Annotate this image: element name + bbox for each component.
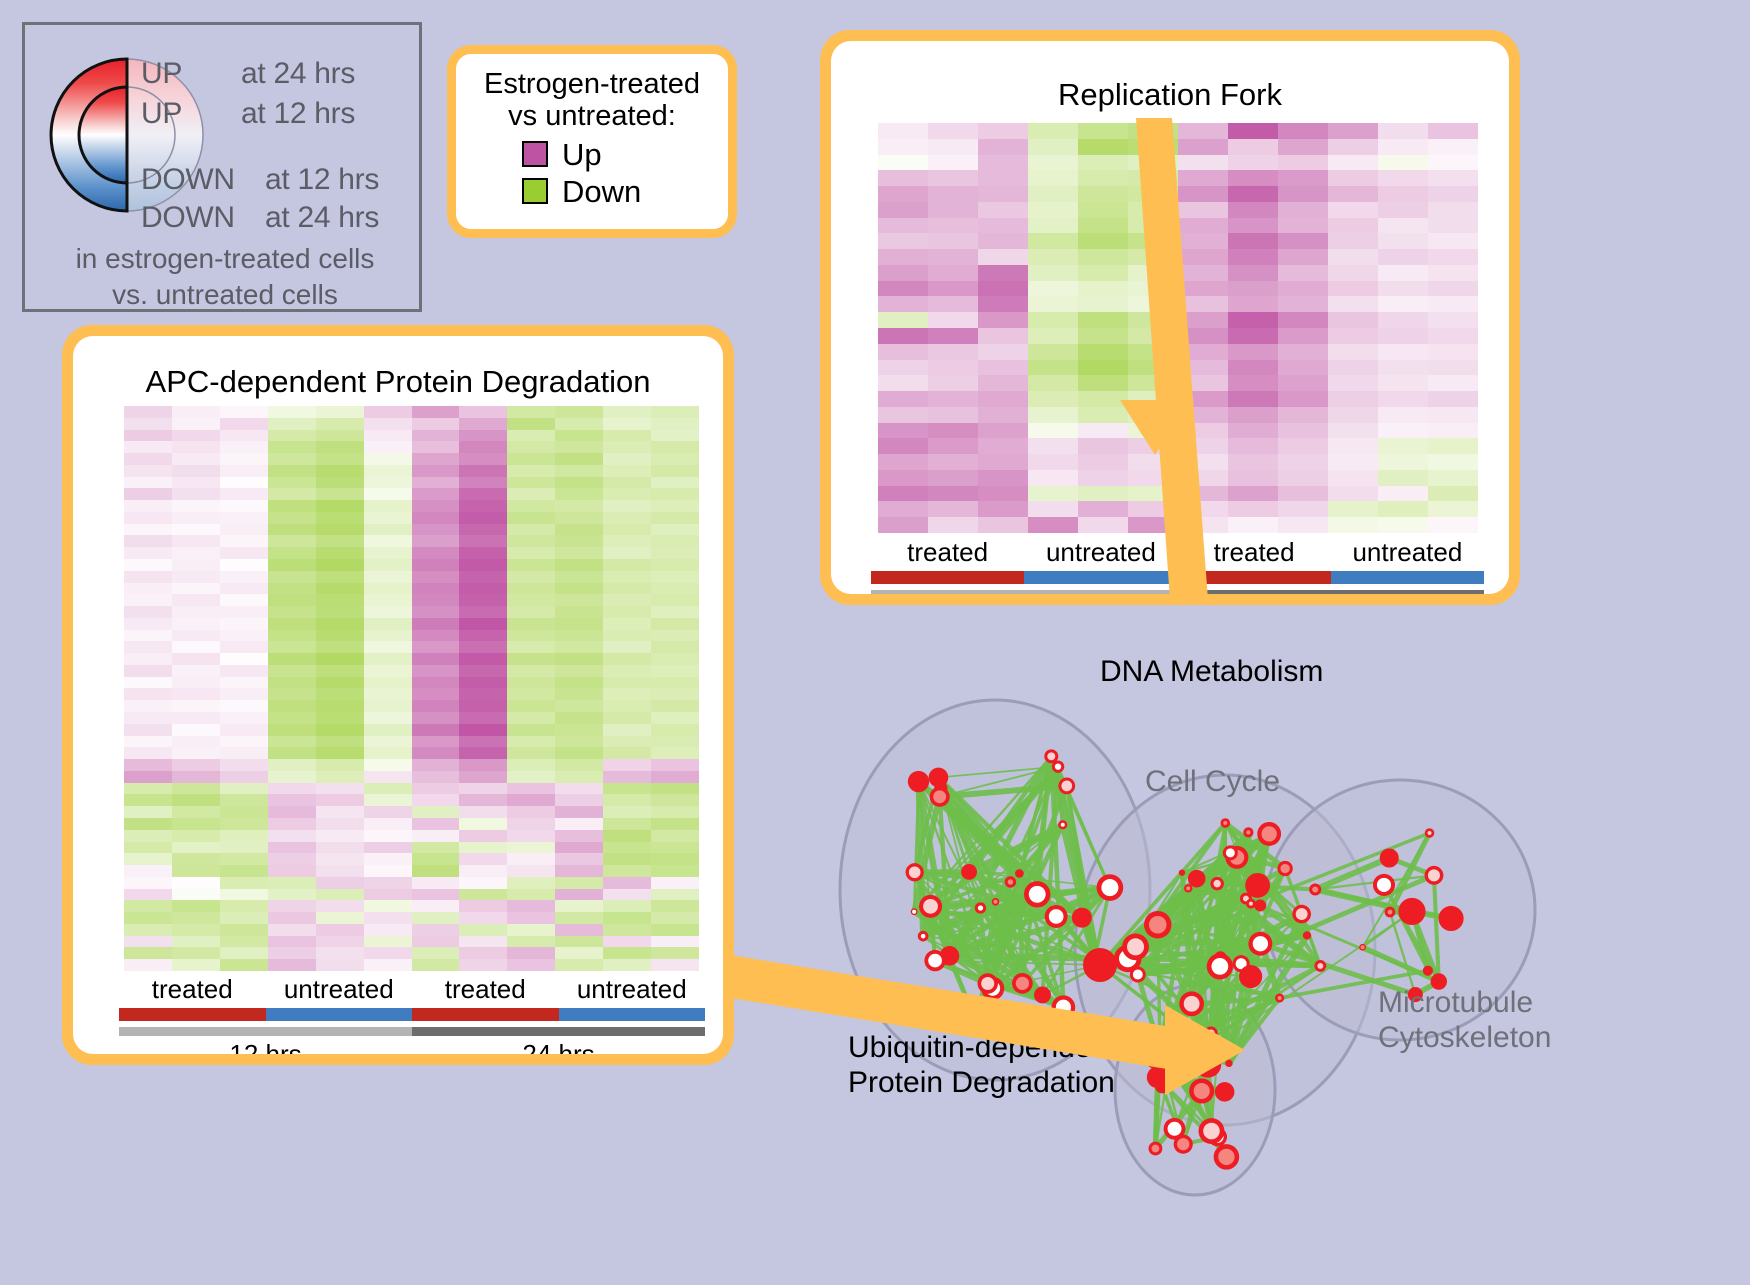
heatmap-cell [172, 430, 220, 442]
heatmap-cell [412, 406, 460, 418]
heatmap-cell [555, 677, 603, 689]
heatmap-cell [603, 583, 651, 595]
heatmap-cell [1028, 265, 1078, 281]
heatmap-cell [364, 736, 412, 748]
condition-bar-segment [412, 1008, 559, 1021]
heatmap-cell [364, 535, 412, 547]
heatmap-cell [412, 630, 460, 642]
heatmap-cell [124, 406, 172, 418]
heatmap-cell [1178, 139, 1228, 155]
heatmap-cell [459, 500, 507, 512]
heatmap-cell [1428, 328, 1478, 344]
network-node [1034, 987, 1051, 1004]
heatmap-cell [1378, 155, 1428, 171]
heatmap-cell [124, 818, 172, 830]
heatmap-cell [268, 606, 316, 618]
heatmap-cell [555, 818, 603, 830]
network-node-core [1101, 879, 1118, 896]
heatmap-cell [651, 747, 699, 759]
heatmap-cell [412, 571, 460, 583]
network-node-core [928, 954, 942, 968]
heatmap-cell [928, 233, 978, 249]
heatmap-cell [603, 747, 651, 759]
heatmap-cell [555, 688, 603, 700]
heatmap-cell [1178, 155, 1228, 171]
heatmap-cell [555, 594, 603, 606]
heatmap-cell [1428, 454, 1478, 470]
heatmap-cell [507, 583, 555, 595]
heatmap-cell [459, 724, 507, 736]
heatmap-cell [1128, 170, 1178, 186]
heatmap-cell [172, 747, 220, 759]
heatmap-cell [1078, 202, 1128, 218]
heatmap-cell [1378, 312, 1428, 328]
condition-label: treated [871, 537, 1024, 568]
heatmap-cell [603, 477, 651, 489]
heatmap-cell [459, 900, 507, 912]
heatmap-cell [220, 818, 268, 830]
heatmap-cell [1178, 123, 1228, 139]
heatmap-cell [1428, 391, 1478, 407]
heatmap-cell [507, 406, 555, 418]
heatmap-cell [412, 583, 460, 595]
heatmap-cell [364, 959, 412, 971]
heatmap-cell [1078, 486, 1128, 502]
heatmap-cell [1228, 407, 1278, 423]
down-color-swatch [522, 178, 548, 204]
heatmap-cell [1178, 407, 1228, 423]
heatmap-cell [220, 877, 268, 889]
heatmap-cell [316, 477, 364, 489]
network-node-core [912, 910, 916, 914]
heatmap-cell [651, 559, 699, 571]
heatmap-cell [555, 512, 603, 524]
estrogen-legend-title-line1: Estrogen-treated [466, 68, 718, 100]
heatmap-cell [459, 630, 507, 642]
heatmap-cell [412, 924, 460, 936]
heatmap-cell [1078, 470, 1128, 486]
heatmap-cell [1028, 155, 1078, 171]
heatmap-cell [220, 783, 268, 795]
heatmap-cell [316, 889, 364, 901]
condition-label: untreated [559, 974, 706, 1005]
heatmap-cell [651, 889, 699, 901]
heatmap-cell [555, 724, 603, 736]
heatmap-cell [268, 406, 316, 418]
heatmap-cell [507, 630, 555, 642]
heatmap-cell [172, 677, 220, 689]
heatmap-cell [364, 877, 412, 889]
heatmap-cell [268, 865, 316, 877]
heatmap-cell [1278, 328, 1328, 344]
heatmap-cell [1028, 486, 1078, 502]
heatmap-cell [1178, 281, 1228, 297]
heatmap-cell [555, 477, 603, 489]
heatmap-cell [124, 712, 172, 724]
heatmap-cell [1128, 328, 1178, 344]
heatmap-cell [1178, 202, 1228, 218]
heatmap-cell [412, 677, 460, 689]
heatmap-cell [603, 606, 651, 618]
heatmap-cell [507, 677, 555, 689]
heatmap-cell [220, 653, 268, 665]
heatmap-cell [878, 123, 928, 139]
heatmap-cell [316, 571, 364, 583]
network-node [1072, 908, 1092, 928]
heatmap-cell [1078, 249, 1128, 265]
heatmap-cell [1428, 407, 1478, 423]
network-node [1239, 965, 1262, 988]
heatmap-cell [928, 218, 978, 234]
heatmap-cell [268, 535, 316, 547]
heatmap-cell [316, 641, 364, 653]
heatmap-cell [172, 665, 220, 677]
heatmap-cell [412, 594, 460, 606]
network-node [1215, 1082, 1235, 1102]
up-color-swatch [522, 141, 548, 167]
heatmap-cell [364, 465, 412, 477]
heatmap-cell [172, 700, 220, 712]
network-node [1438, 906, 1463, 931]
heatmap-cell [316, 512, 364, 524]
heatmap-cell [412, 759, 460, 771]
heatmap-cell [651, 630, 699, 642]
heatmap-cell [1278, 438, 1328, 454]
heatmap-cell [220, 641, 268, 653]
heatmap-cell [364, 677, 412, 689]
estrogen-legend-card: Estrogen-treated vs untreated: Up Down [447, 45, 737, 238]
heatmap-cell [555, 524, 603, 536]
heatmap-cell [316, 583, 364, 595]
heatmap-cell [268, 947, 316, 959]
heatmap-cell [651, 700, 699, 712]
heatmap-cell [412, 700, 460, 712]
heatmap-cell [1178, 186, 1228, 202]
heatmap-cell [220, 583, 268, 595]
heatmap-cell [316, 418, 364, 430]
heatmap-cell [928, 328, 978, 344]
heatmap-cell [364, 912, 412, 924]
heatmap-cell [459, 783, 507, 795]
heatmap-cell [1328, 296, 1378, 312]
heatmap-cell [220, 453, 268, 465]
heatmap-cell [507, 500, 555, 512]
heatmap-cell [651, 688, 699, 700]
heatmap-cell [124, 877, 172, 889]
heatmap-cell [1028, 186, 1078, 202]
heatmap-cell [878, 407, 928, 423]
heatmap-cell [268, 818, 316, 830]
heatmap-cell [412, 865, 460, 877]
heatmap-cell [1078, 281, 1128, 297]
heatmap-cell [172, 618, 220, 630]
heatmap-cell [1328, 423, 1378, 439]
heatmap-cell [364, 830, 412, 842]
heatmap-cell [555, 700, 603, 712]
heatmap-cell [316, 630, 364, 642]
heatmap-cell [1428, 423, 1478, 439]
network-node-core [978, 905, 983, 910]
cluster-label-microtubule: Microtubule Cytoskeleton [1378, 985, 1551, 1056]
timepoint-label: 12 hrs [119, 1039, 412, 1054]
network-node-core [1207, 1029, 1215, 1037]
network-node-core [1152, 1145, 1160, 1153]
heatmap-cell [316, 959, 364, 971]
heatmap-cell [172, 653, 220, 665]
heatmap-cell [651, 430, 699, 442]
heatmap-cell [268, 441, 316, 453]
heatmap-cell [1028, 218, 1078, 234]
heatmap-cell [364, 547, 412, 559]
heatmap-cell [268, 453, 316, 465]
network-node-core [921, 934, 926, 939]
heatmap-cell [364, 724, 412, 736]
heatmap-cell [268, 736, 316, 748]
heatmap-cell [603, 818, 651, 830]
heatmap-cell [124, 559, 172, 571]
heatmap-cell [507, 724, 555, 736]
heatmap-cell [316, 818, 364, 830]
heatmap-cell [1328, 170, 1378, 186]
heatmap-cell [172, 688, 220, 700]
heatmap-cell [268, 959, 316, 971]
heatmap-cell [459, 700, 507, 712]
timepoint-color-bar-apc [119, 1027, 705, 1036]
heatmap-cell [459, 559, 507, 571]
heatmap-cell [1078, 123, 1128, 139]
heatmap-cell [603, 677, 651, 689]
network-node [1015, 869, 1024, 878]
heatmap-cell [1228, 139, 1278, 155]
heatmap-cell [878, 517, 928, 533]
heatmap-cell [507, 618, 555, 630]
heatmap-cell [1178, 438, 1228, 454]
heatmap-apc [124, 406, 699, 971]
heatmap-cell [172, 641, 220, 653]
heatmap-cell [124, 488, 172, 500]
heatmap-cell [1028, 470, 1078, 486]
legend-item-up: Up [522, 139, 718, 170]
heatmap-cell [651, 406, 699, 418]
heatmap-cell [1328, 501, 1378, 517]
network-node-core [1312, 886, 1318, 892]
heatmap-cell [172, 512, 220, 524]
heatmap-cell [1178, 360, 1228, 376]
heatmap-cell [268, 877, 316, 889]
heatmap-cell [412, 818, 460, 830]
heatmap-cell [1228, 265, 1278, 281]
heatmap-cell [1328, 123, 1378, 139]
heatmap-cell [507, 924, 555, 936]
heatmap-cell [1128, 470, 1178, 486]
heatmap-cell [364, 500, 412, 512]
network-node-core [1133, 970, 1143, 980]
heatmap-cell [507, 535, 555, 547]
heatmap-cell [1078, 233, 1128, 249]
heatmap-cell [507, 771, 555, 783]
network-node-core [1194, 1083, 1210, 1099]
heatmap-cell [316, 535, 364, 547]
heatmap-cell [651, 477, 699, 489]
heatmap-cell [555, 641, 603, 653]
network-node-core [1262, 826, 1277, 841]
heatmap-cell [1378, 170, 1428, 186]
network-node-core [1184, 996, 1200, 1012]
heatmap-cell [220, 842, 268, 854]
heatmap-cell [316, 465, 364, 477]
heatmap-cell [1428, 218, 1478, 234]
condition-bar-segment [1178, 571, 1331, 584]
heatmap-cell [268, 700, 316, 712]
heatmap-cell [555, 465, 603, 477]
heatmap-cell [555, 618, 603, 630]
heatmap-cell [1078, 155, 1128, 171]
heatmap-cell [1328, 454, 1378, 470]
network-node [1083, 948, 1117, 982]
heatmap-cell [928, 454, 978, 470]
heatmap-cell [1128, 454, 1178, 470]
heatmap-cell [1428, 249, 1478, 265]
heatmap-cell [220, 406, 268, 418]
heatmap-cell [1228, 170, 1278, 186]
heatmap-cell [1278, 375, 1328, 391]
heatmap-cell [928, 407, 978, 423]
heatmap-cell [1078, 296, 1128, 312]
network-node-core [1203, 1123, 1220, 1140]
heatmap-cell [555, 865, 603, 877]
heatmap-cell [1378, 407, 1428, 423]
heatmap-cell [412, 936, 460, 948]
heatmap-cell [507, 547, 555, 559]
heatmap-cell [878, 312, 928, 328]
heatmap-cell [364, 653, 412, 665]
heatmap-cell [412, 641, 460, 653]
heatmap-cell [1078, 438, 1128, 454]
heatmap-cell [220, 535, 268, 547]
heatmap-cell [268, 900, 316, 912]
network-node-core [1280, 864, 1289, 873]
heatmap-cell [928, 170, 978, 186]
heatmap-cell [978, 139, 1028, 155]
heatmap-cell [651, 618, 699, 630]
heatmap-cell [268, 912, 316, 924]
heatmap-cell [124, 947, 172, 959]
heatmap-cell [316, 842, 364, 854]
heatmap-cell [459, 736, 507, 748]
heatmap-cell [412, 842, 460, 854]
heatmap-cell [364, 524, 412, 536]
ring-label-down-12: DOWN [141, 163, 235, 197]
heatmap-cell [507, 665, 555, 677]
heatmap-cell [1078, 391, 1128, 407]
heatmap-cell [603, 900, 651, 912]
heatmap-cell [220, 618, 268, 630]
heatmap-cell [172, 547, 220, 559]
heatmap-cell [220, 853, 268, 865]
network-node-core [1061, 823, 1065, 827]
heatmap-cell [1428, 360, 1478, 376]
heatmap-cell [268, 559, 316, 571]
heatmap-cell [364, 630, 412, 642]
heatmap-cell [507, 912, 555, 924]
heatmap-cell [316, 877, 364, 889]
heatmap-cell [603, 889, 651, 901]
heatmap-cell [1178, 312, 1228, 328]
heatmap-cell [1228, 391, 1278, 407]
network-node [961, 864, 977, 880]
heatmap-cell [1428, 139, 1478, 155]
cluster-label-cell-cycle: Cell Cycle [1145, 765, 1280, 799]
heatmap-cell [268, 512, 316, 524]
heatmap-cell [1028, 438, 1078, 454]
heatmap-cell [507, 571, 555, 583]
heatmap-cell [364, 583, 412, 595]
heatmap-cell [555, 771, 603, 783]
heatmap-cell [1128, 344, 1178, 360]
heatmap-cell [651, 877, 699, 889]
heatmap-cell [978, 375, 1028, 391]
heatmap-cell [364, 571, 412, 583]
heatmap-cell [412, 453, 460, 465]
heatmap-cell [1028, 139, 1078, 155]
heatmap-cell [1278, 407, 1328, 423]
heatmap-cell [603, 771, 651, 783]
heatmap-cell [412, 535, 460, 547]
heatmap-cell [220, 712, 268, 724]
heatmap-cell [1278, 501, 1328, 517]
heatmap-cell [316, 606, 364, 618]
heatmap-cell [555, 418, 603, 430]
heatmap-cell [459, 606, 507, 618]
heatmap-cell [1078, 423, 1128, 439]
heatmap-cell [316, 665, 364, 677]
heatmap-cell [1328, 375, 1378, 391]
network-node-core [1361, 945, 1365, 949]
heatmap-cell [172, 488, 220, 500]
heatmap-cell [268, 830, 316, 842]
heatmap-cell [1178, 265, 1228, 281]
heatmap-cell [555, 830, 603, 842]
heatmap-cell [1078, 517, 1128, 533]
heatmap-cell [928, 486, 978, 502]
heatmap-cell [364, 512, 412, 524]
heatmap-cell [172, 830, 220, 842]
heatmap-cell [412, 912, 460, 924]
heatmap-cell [978, 407, 1028, 423]
heatmap-cell [555, 947, 603, 959]
heatmap-cell [1128, 123, 1178, 139]
heatmap-cell [124, 641, 172, 653]
heatmap-cell [412, 830, 460, 842]
condition-color-bar-apc [119, 1008, 705, 1021]
ring-label-up-24: UP [141, 57, 182, 91]
heatmap-cell [1128, 360, 1178, 376]
heatmap-cell [124, 547, 172, 559]
heatmap-cell [459, 889, 507, 901]
heatmap-cell [1228, 486, 1278, 502]
heatmap-cell [507, 606, 555, 618]
heatmap-cell [1428, 486, 1478, 502]
heatmap-cell [1428, 438, 1478, 454]
heatmap-cell [459, 924, 507, 936]
heatmap-cell [124, 630, 172, 642]
heatmap-cell [220, 500, 268, 512]
heatmap-cell [1278, 423, 1328, 439]
heatmap-cell [978, 155, 1028, 171]
heatmap-cell [1278, 281, 1328, 297]
heatmap-cell [603, 418, 651, 430]
heatmap-cell [651, 453, 699, 465]
